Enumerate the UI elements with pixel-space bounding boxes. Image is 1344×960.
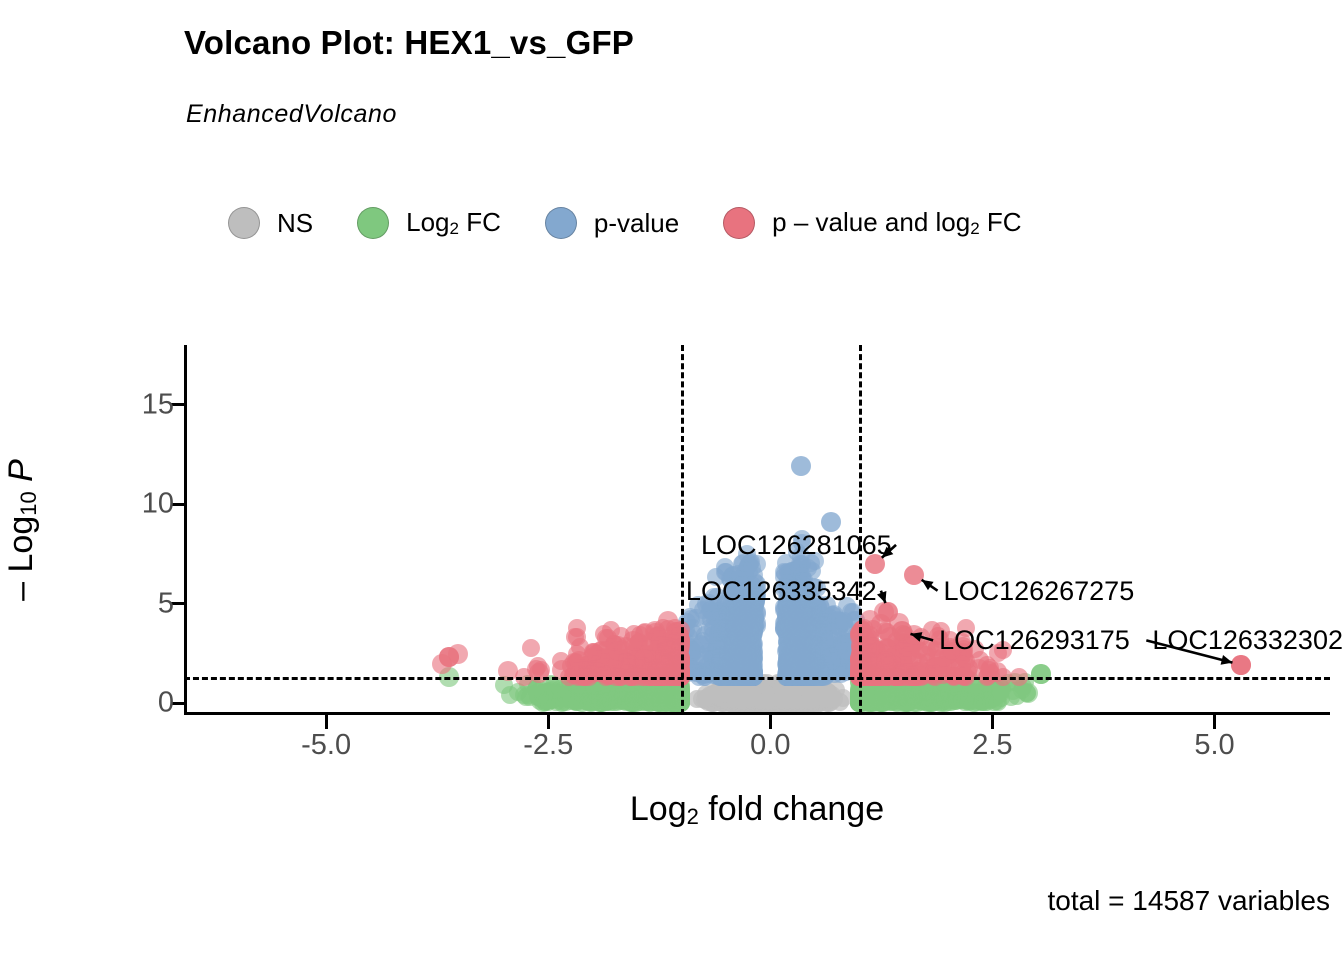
legend-ns-label: NS: [277, 208, 313, 239]
legend-pvalue-and-log2fc: p – value and log2 FC: [723, 207, 1065, 239]
legend-ns-swatch: [228, 207, 260, 239]
plot-panel: 051015-5.0-2.50.02.55.0LOC126281065LOC12…: [184, 345, 1330, 715]
page-title: Volcano Plot: HEX1_vs_GFP: [184, 24, 634, 62]
legend-pvalue-and-log2fc-swatch: [723, 207, 755, 239]
legend-log2fc: Log2 FC: [357, 207, 545, 239]
legend-pvalue-label: p-value: [594, 208, 679, 239]
legend-log2fc-swatch: [357, 207, 389, 239]
legend-pvalue-and-log2fc-label: p – value and log2 FC: [772, 207, 1021, 239]
data-point: [723, 685, 741, 703]
page-subtitle: EnhancedVolcano: [186, 100, 397, 129]
data-point: [740, 690, 758, 708]
y-axis-title: – Log10 P: [2, 459, 42, 601]
legend-pvalue-swatch: [545, 207, 577, 239]
legend: NSLog2 FCp-valuep – value and log2 FC: [228, 198, 1066, 248]
data-point: [759, 691, 777, 709]
legend-ns: NS: [228, 207, 357, 239]
data-point: [806, 688, 824, 706]
legend-log2fc-label: Log2 FC: [406, 207, 501, 239]
legend-pvalue: p-value: [545, 207, 723, 239]
